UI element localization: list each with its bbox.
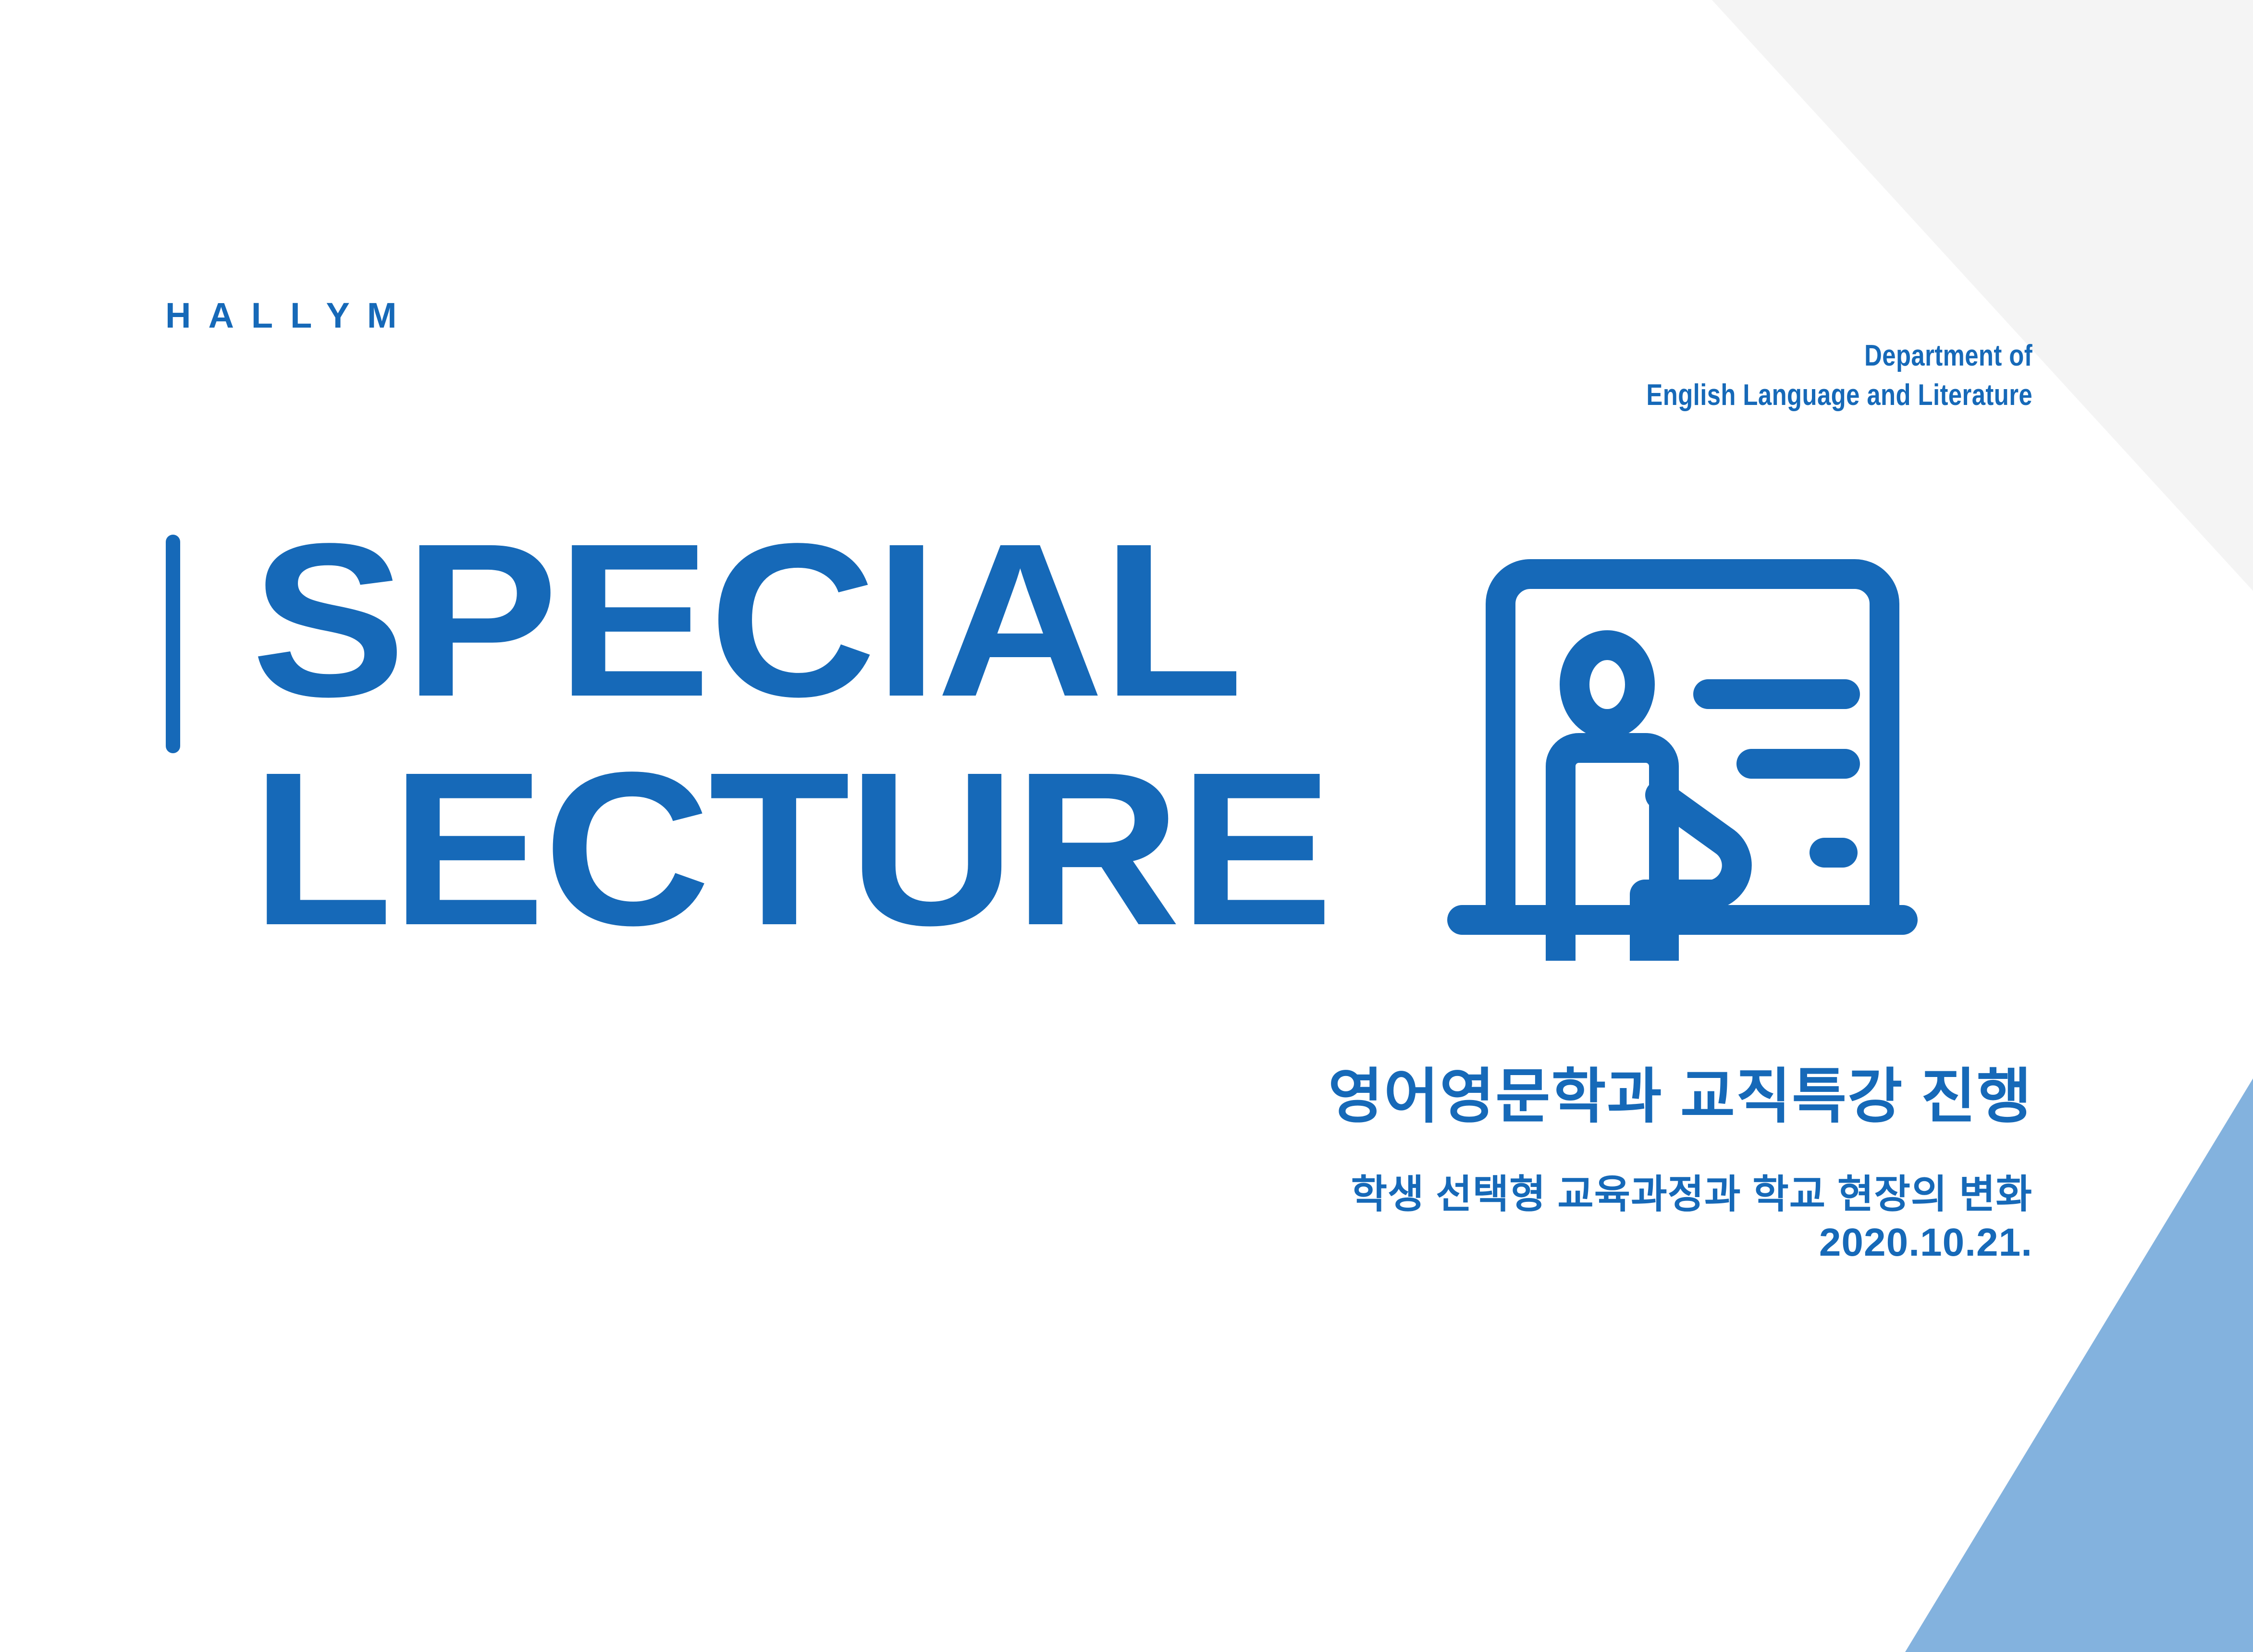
department-line-2: English Language and Literature bbox=[1646, 376, 2032, 415]
korean-title: 영어영문학과 교직특강 진행 bbox=[1328, 1064, 2032, 1129]
poster-canvas: HALLYM Department of English Language an… bbox=[0, 0, 2253, 1652]
hallym-wordmark: HALLYM bbox=[165, 298, 414, 333]
headline-group: SPECIAL LECTURE bbox=[166, 516, 1270, 953]
page-title: SPECIAL LECTURE bbox=[251, 516, 1270, 953]
headline-accent-bar bbox=[166, 535, 180, 753]
lecture-presentation-icon-svg bbox=[1420, 538, 1929, 961]
korean-subtitle: 학생 선택형 교육과정과 학교 현장의 변화 bbox=[1328, 1171, 2032, 1219]
korean-date: 2020.10.21. bbox=[1328, 1219, 2032, 1267]
lecture-presentation-icon bbox=[1420, 538, 1929, 961]
presenter-head bbox=[1575, 645, 1640, 724]
headline-line-1: SPECIAL bbox=[251, 516, 1331, 724]
korean-text-block: 영어영문학과 교직특강 진행 학생 선택형 교육과정과 학교 현장의 변화 20… bbox=[1328, 1064, 2032, 1267]
department-block: Department of English Language and Liter… bbox=[1646, 336, 2032, 415]
headline-line-2: LECTURE bbox=[251, 745, 1331, 953]
department-line-1: Department of bbox=[1646, 336, 2032, 376]
top-right-gray-triangle bbox=[1712, 0, 2253, 591]
